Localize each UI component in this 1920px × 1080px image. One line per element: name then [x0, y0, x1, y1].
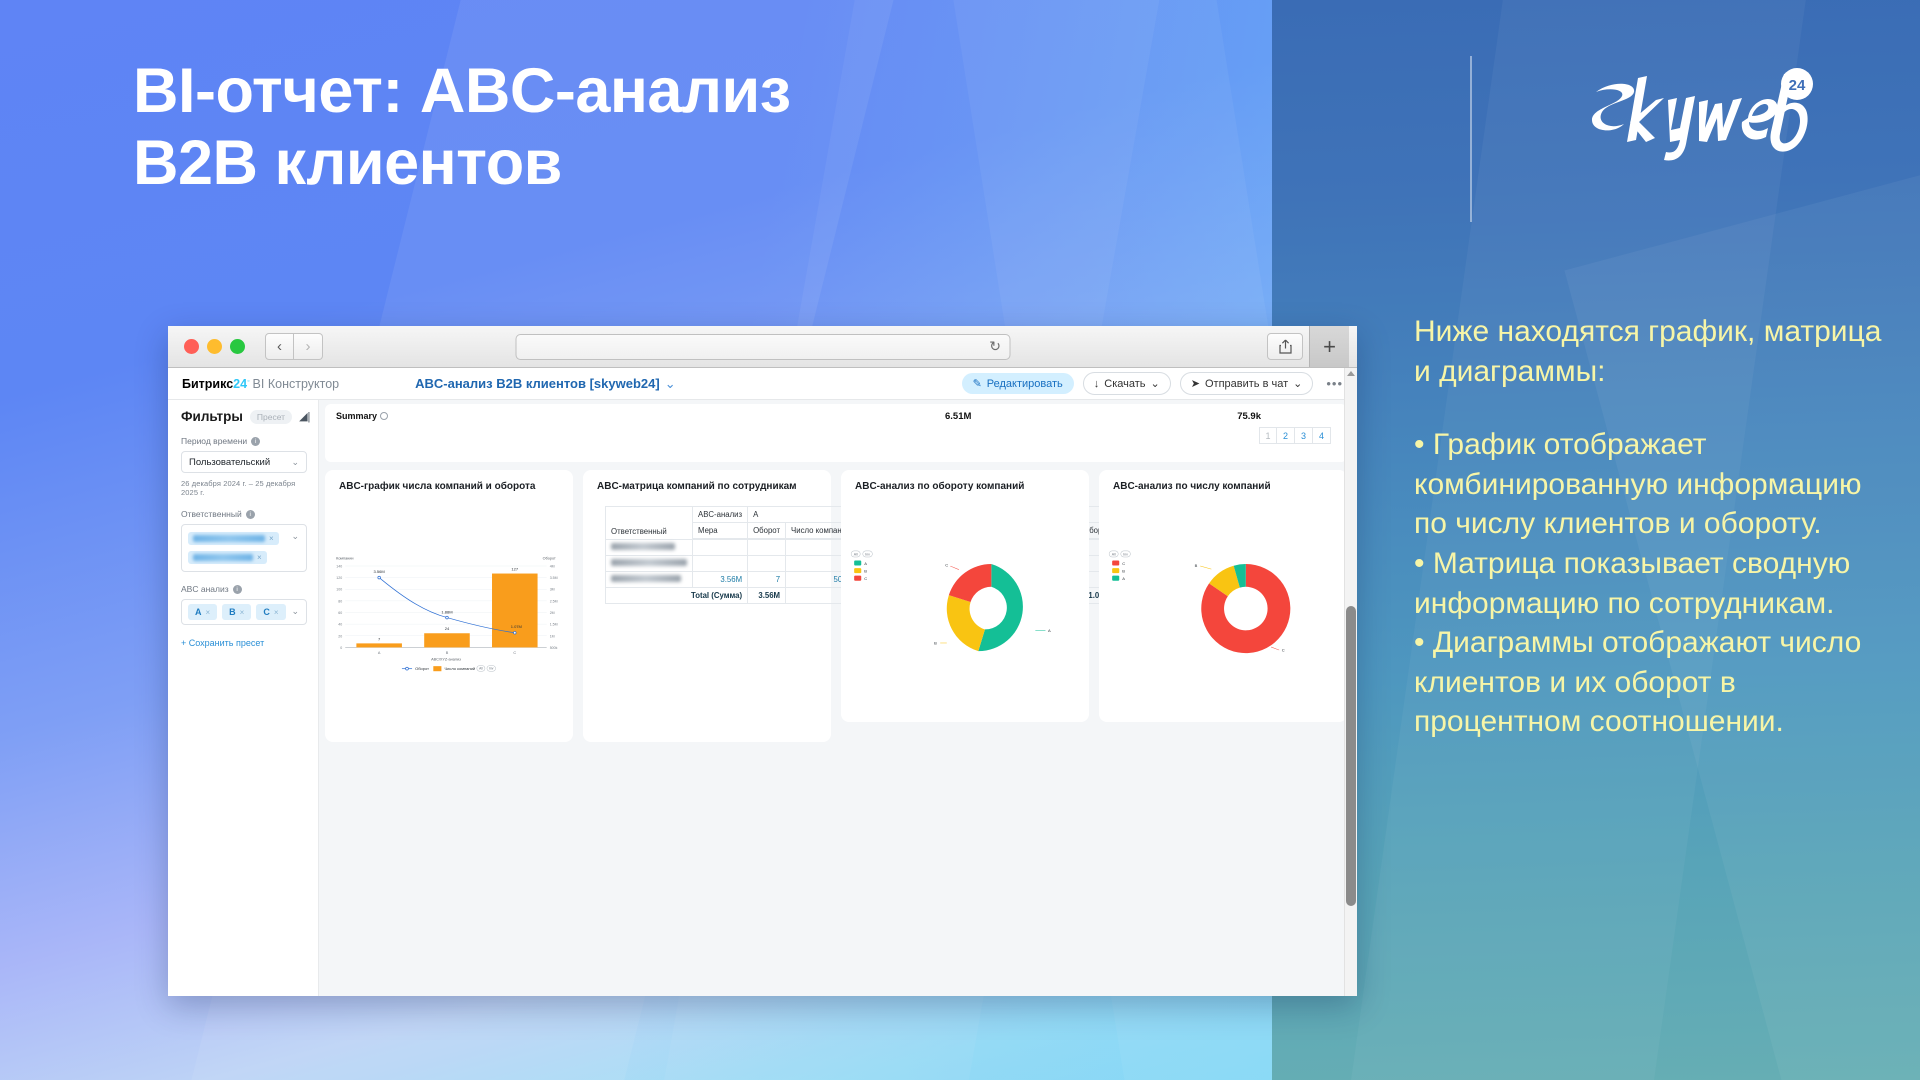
callout-label-c: C	[1282, 648, 1285, 653]
slice-B	[947, 595, 985, 651]
callout-label-c: C	[945, 563, 948, 568]
chevron-down-icon: ⌄	[1151, 377, 1160, 390]
download-button[interactable]: ↓ Скачать ⌄	[1083, 372, 1171, 395]
minimize-window-icon[interactable]	[207, 339, 222, 354]
save-preset-link[interactable]: + Сохранить пресет	[181, 638, 307, 648]
svg-text:40: 40	[338, 623, 342, 627]
abc-tag-a[interactable]: A ×	[188, 604, 217, 620]
send-icon: ➤	[1191, 377, 1200, 390]
svg-text:3.5M: 3.5M	[550, 576, 558, 580]
matrix-row-header-cell: Ответственный	[606, 507, 693, 540]
cell-a-count: 7	[748, 572, 786, 588]
donut-turnover-legend: All Inv A B C	[851, 551, 872, 581]
bar-label-B: 24	[445, 626, 450, 631]
responsible-label: Ответственный i	[181, 509, 307, 519]
svg-text:500k: 500k	[550, 646, 558, 650]
preset-chip[interactable]: Пресет	[250, 410, 292, 424]
description-bullet-1: • График отображает комбинированную инфо…	[1414, 425, 1884, 544]
legend-chip-inv: Inv	[1123, 552, 1128, 556]
brand-prefix: Битрикс	[182, 377, 233, 391]
legend-chip-all: All	[479, 667, 483, 671]
legend-item-b: B	[864, 569, 867, 574]
report-title-text: ABC-анализ B2B клиентов [skyweb24]	[415, 376, 660, 391]
svg-text:2M: 2M	[550, 611, 555, 615]
vertical-scrollbar[interactable]	[1344, 368, 1357, 996]
svg-text:C: C	[513, 651, 516, 655]
svg-text:B: B	[446, 651, 449, 655]
logo-badge-text: 24	[1789, 77, 1806, 94]
summary-value-turnover: 6.51M	[945, 411, 971, 422]
abc-analysis-label-text: ABC анализ	[181, 584, 229, 594]
summary-label: Summary	[336, 411, 388, 421]
legend-count: Число компаний	[444, 666, 475, 671]
abc-tag-c[interactable]: C ×	[256, 604, 285, 620]
line-point-A	[378, 576, 381, 579]
close-window-icon[interactable]	[184, 339, 199, 354]
donut-count-legend: All Inv C B A	[1109, 551, 1130, 581]
svg-text:60: 60	[338, 611, 342, 615]
svg-text:1.5M: 1.5M	[550, 623, 558, 627]
svg-text:120: 120	[336, 576, 342, 580]
donut-turnover-title: ABC-анализ по обороту компаний	[841, 470, 1089, 492]
line-label-C: 1.07M	[511, 624, 523, 629]
svg-text:100: 100	[336, 588, 342, 592]
combo-legend: Оборот Число компаний All Inv	[402, 666, 496, 672]
download-icon: ↓	[1094, 378, 1100, 390]
remove-tag-icon[interactable]: ×	[274, 608, 279, 617]
remove-tag-icon[interactable]: ×	[206, 608, 211, 617]
matrix-total-label: Total (Сумма)	[606, 588, 748, 604]
legend-item-b: B	[1122, 569, 1125, 574]
remove-tag-icon[interactable]: ×	[257, 553, 262, 562]
share-icon[interactable]	[1267, 333, 1303, 360]
svg-text:1M: 1M	[550, 634, 555, 638]
description-bullet-2: • Матрица показывает сводную информацию …	[1414, 544, 1884, 623]
matrix-measure-label: Мера	[693, 523, 748, 539]
donut-count-title: ABC-анализ по числу компаний	[1099, 470, 1347, 492]
back-icon[interactable]: ‹	[265, 333, 294, 360]
browser-navigation[interactable]: ‹ ›	[265, 333, 323, 360]
bar-label-C: 127	[511, 566, 518, 571]
donut-turnover-chart[interactable]: All Inv A B C	[841, 492, 1089, 714]
app-header: Битрикс24◦BI Конструктор ABC-анализ B2B …	[168, 368, 1357, 400]
line-label-A: 3.56M	[374, 569, 386, 574]
new-tab-icon[interactable]: +	[1309, 326, 1349, 367]
bar-B	[424, 633, 470, 647]
abc-tag-label: A	[195, 607, 202, 617]
report-title-dropdown[interactable]: ABC-анализ B2B клиентов [skyweb24]⌄	[415, 376, 675, 392]
send-to-chat-label: Отправить в чат	[1205, 378, 1288, 390]
svg-text:2.5M: 2.5M	[550, 599, 558, 603]
donut-count-chart[interactable]: All Inv C B A	[1099, 492, 1347, 714]
callout-line-c	[1271, 647, 1279, 650]
callout-label-a: A	[1048, 628, 1051, 633]
legend-item-c: C	[1122, 561, 1125, 566]
employee-name-redacted	[606, 540, 693, 556]
app-body: Фильтры Пресет ◢| Период времени i Польз…	[168, 400, 1357, 996]
employee-name-redacted	[606, 572, 693, 588]
responsible-label-text: Ответственный	[181, 509, 242, 519]
widget-grid: ABC-график числа компаний и оборота Комп…	[319, 462, 1357, 742]
page-4-button[interactable]: 4	[1313, 427, 1331, 444]
forward-icon[interactable]: ›	[294, 333, 323, 360]
bar-A	[356, 643, 402, 647]
responsible-tag[interactable]: ×	[188, 548, 300, 567]
matrix-title: ABC-матрица компаний по сотрудникам	[583, 470, 831, 492]
matrix-group-label: ABC-анализ	[698, 510, 742, 519]
skyweb24-logo: 24	[1552, 62, 1820, 170]
remove-tag-icon[interactable]: ×	[269, 534, 274, 543]
legend-item-a: A	[1122, 576, 1125, 581]
combo-chart-title: ABC-график числа компаний и оборота	[325, 470, 573, 492]
brand-suffix: BI Конструктор	[253, 377, 340, 391]
description-spacer	[1414, 391, 1884, 425]
browser-window: ‹ › ↻ + Битрикс24◦BI Конструктор ABC-ана…	[168, 326, 1357, 996]
brand-24: 24	[233, 377, 247, 391]
header-divider	[1470, 56, 1472, 222]
edit-button-label: Редактировать	[987, 378, 1063, 390]
abc-tag-label: C	[263, 607, 270, 617]
line-point-C	[513, 631, 516, 634]
svg-text:4M: 4M	[550, 564, 555, 568]
slide-description: Ниже находятся график, матрица и диаграм…	[1414, 312, 1884, 742]
summary-card: Summary 6.51M 75.9k 1 2 3 4	[325, 404, 1347, 462]
pagination[interactable]: 1 2 3 4	[1259, 427, 1331, 444]
legend-chip-inv: Inv	[865, 552, 870, 556]
matrix-row-header-label: Ответственный	[611, 527, 667, 536]
window-traffic-lights[interactable]	[184, 339, 245, 354]
legend-chip-all: All	[1112, 552, 1116, 556]
reload-icon[interactable]: ↻	[989, 338, 1001, 355]
info-icon[interactable]: i	[246, 510, 255, 519]
maximize-window-icon[interactable]	[230, 339, 245, 354]
chevron-down-icon: ⌄	[665, 376, 676, 391]
legend-chip-inv: Inv	[489, 667, 494, 671]
filters-sidebar: Фильтры Пресет ◢| Период времени i Польз…	[168, 400, 319, 996]
callout-line-b	[1200, 566, 1211, 569]
pencil-icon: ✎	[973, 377, 982, 390]
svg-text:3M: 3M	[550, 588, 555, 592]
summary-value-avg: 75.9k	[1237, 411, 1261, 422]
browser-chrome-right: +	[1267, 326, 1349, 367]
page-2-button[interactable]: 2	[1277, 427, 1295, 444]
matrix-measure-a-1: Оборот	[748, 523, 786, 539]
edit-button[interactable]: ✎ Редактировать	[962, 373, 1074, 394]
bar-label-A: 7	[378, 636, 381, 641]
combo-y-left-ticks: 140 120 100 80 60 40 20 0	[336, 564, 342, 649]
report-canvas: Summary 6.51M 75.9k 1 2 3 4 ABC-график ч…	[319, 400, 1357, 996]
line-label-B: 1.88M	[441, 610, 453, 615]
info-icon[interactable]: i	[233, 585, 242, 594]
legend-chip-all: All	[854, 552, 858, 556]
scrollbar-thumb[interactable]	[1346, 606, 1356, 906]
info-icon[interactable]: i	[251, 437, 260, 446]
slice-C	[949, 564, 991, 602]
share-glyph	[1279, 339, 1292, 354]
combo-y-right-ticks: 4M 3.5M 3M 2.5M 2M 1.5M 1M 500k	[550, 564, 558, 649]
svg-text:140: 140	[336, 564, 342, 568]
send-to-chat-button[interactable]: ➤ Отправить в чат ⌄	[1180, 372, 1314, 395]
abc-tag-label: B	[229, 607, 236, 617]
summary-label-text: Summary	[336, 411, 377, 421]
matrix-card: ABC-матрица компаний по сотрудникам Отве…	[583, 470, 831, 742]
callout-label-b: B	[1195, 563, 1198, 568]
matrix-group-label-cell: ABC-анализ	[693, 507, 748, 523]
description-bullet-3: • Диаграммы отображают число клиентов и …	[1414, 623, 1884, 742]
filters-header: Фильтры Пресет ◢|	[181, 409, 307, 424]
abc-multiselect[interactable]: ⌄ A × B × C ×	[181, 599, 307, 625]
page-1-button[interactable]: 1	[1259, 427, 1277, 444]
svg-text:A: A	[378, 651, 381, 655]
combo-chart[interactable]: Компании Оборот 140 120 100 80 60 40 20 …	[325, 492, 573, 732]
matrix-table-wrap[interactable]: Ответственный ABC-анализ A B C Мера	[583, 492, 831, 604]
date-range-text: 26 декабря 2024 г. – 25 декабря 2025 г.	[181, 479, 307, 497]
description-intro: Ниже находятся график, матрица и диаграм…	[1414, 312, 1884, 391]
download-button-label: Скачать	[1104, 378, 1145, 390]
bitrix24-brand: Битрикс24◦BI Конструктор	[182, 377, 339, 391]
report-actions: ✎ Редактировать ↓ Скачать ⌄ ➤ Отправить …	[962, 372, 1357, 395]
legend-item-c: C	[864, 576, 867, 581]
combo-y-left-label: Компании	[336, 556, 353, 560]
callout-label-b: B	[934, 641, 937, 646]
filters-title: Фильтры	[181, 409, 243, 424]
svg-text:0: 0	[340, 646, 342, 650]
svg-text:20: 20	[338, 634, 342, 638]
collapse-panel-icon[interactable]: ◢|	[299, 410, 310, 423]
callout-line-c	[950, 566, 959, 570]
page-title: BI-отчет: ABC-анализ B2B клиентов	[133, 56, 1183, 200]
donut-count-ring	[1201, 564, 1290, 653]
abc-analysis-label: ABC анализ i	[181, 584, 307, 594]
abc-tag-b[interactable]: B ×	[222, 604, 251, 620]
period-label-text: Период времени	[181, 436, 247, 446]
chevron-down-icon: ⌄	[291, 457, 299, 468]
total-a-turnover: 3.56M	[748, 588, 786, 604]
combo-x-axis-label: ABC/XYZ-анализ	[431, 658, 461, 662]
page-3-button[interactable]: 3	[1295, 427, 1313, 444]
browser-chrome-toolbar: ‹ › ↻ +	[168, 326, 1357, 368]
address-bar[interactable]: ↻	[515, 334, 1010, 360]
legend-item-a: A	[864, 561, 867, 566]
donut-count-card: ABC-анализ по числу компаний All Inv C B	[1099, 470, 1347, 722]
period-select-value: Пользовательский	[189, 457, 270, 468]
combo-y-right-label: Оборот	[543, 556, 556, 560]
period-label: Период времени i	[181, 436, 307, 446]
logo-mark: 24	[1552, 62, 1820, 170]
legend-turnover: Оборот	[415, 666, 429, 671]
period-select[interactable]: Пользовательский ⌄	[181, 451, 307, 473]
remove-tag-icon[interactable]: ×	[240, 608, 245, 617]
combo-chart-card: ABC-график числа компаний и оборота Комп…	[325, 470, 573, 742]
donut-turnover-ring	[947, 564, 1023, 651]
scroll-up-icon[interactable]	[1347, 371, 1355, 376]
line-point-B	[446, 616, 449, 619]
svg-text:80: 80	[338, 599, 342, 603]
cell-a-turnover: 3.56M	[693, 572, 748, 588]
chevron-down-icon: ⌄	[291, 531, 299, 542]
info-icon[interactable]	[380, 412, 388, 420]
chevron-down-icon: ⌄	[291, 606, 299, 617]
chevron-down-icon: ⌄	[1293, 377, 1302, 390]
responsible-tag[interactable]: ×	[188, 529, 300, 548]
page-title-line1: BI-отчет: ABC-анализ	[133, 56, 1183, 128]
page-title-line2: B2B клиентов	[133, 128, 1183, 200]
combo-x-ticks: A B C	[378, 651, 517, 655]
donut-turnover-card: ABC-анализ по обороту компаний All Inv A…	[841, 470, 1089, 722]
responsible-multiselect[interactable]: ⌄ × ×	[181, 524, 307, 572]
employee-name-redacted	[606, 556, 693, 572]
bar-C	[492, 574, 538, 648]
